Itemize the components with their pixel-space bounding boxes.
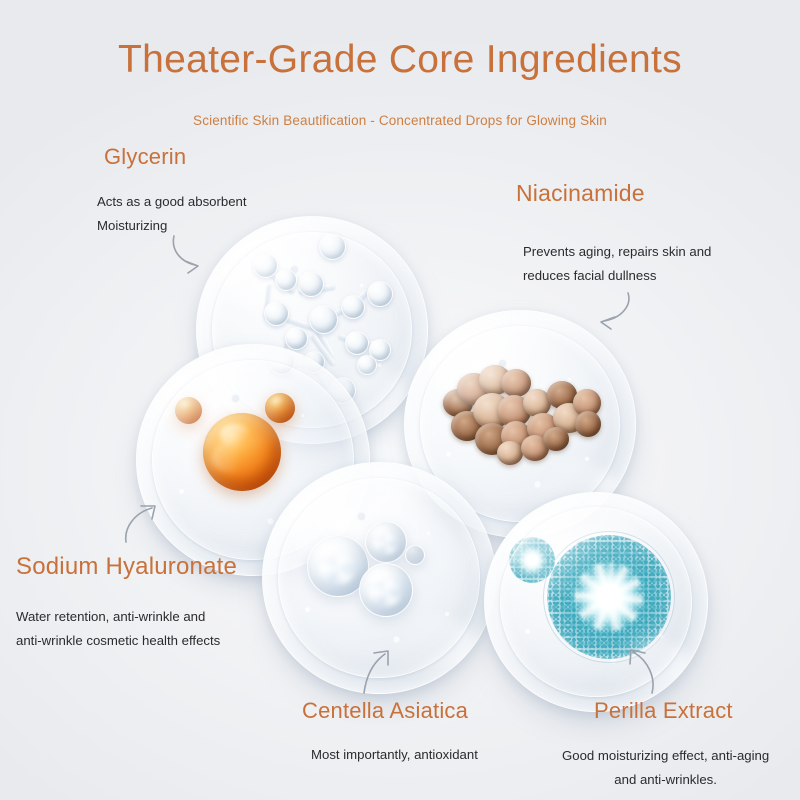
ingredient-name-centella-asiatica: Centella Asiatica (302, 698, 468, 724)
description-line: Prevents aging, repairs skin and (523, 240, 711, 264)
botanical-cluster-icon (439, 359, 607, 471)
description-line: Most importantly, antioxidant (311, 743, 478, 767)
ingredient-name-niacinamide: Niacinamide (516, 180, 645, 207)
dish-perilla-extract (484, 492, 708, 712)
teal-glow-orb-icon (547, 535, 671, 659)
amber-droplet-medium-icon (265, 393, 295, 423)
description-line: anti-wrinkle cosmetic health effects (16, 629, 220, 653)
ingredient-description-centella-asiatica: Most importantly, antioxidant (311, 743, 478, 767)
ingredient-name-perilla-extract: Perilla Extract (594, 698, 733, 724)
ingredient-name-sodium-hyaluronate: Sodium Hyaluronate (16, 553, 237, 581)
teal-glow-orb-small-icon (509, 537, 555, 583)
description-line: Acts as a good absorbent (97, 190, 247, 214)
clear-sphere-lower-icon (359, 563, 413, 617)
description-line: and anti-wrinkles. (562, 768, 769, 792)
description-line: reduces facial dullness (523, 264, 711, 288)
ingredient-name-glycerin: Glycerin (104, 144, 186, 170)
clear-sphere-medium-icon (365, 521, 407, 563)
clear-sphere-tiny-icon (405, 545, 425, 565)
ingredient-description-glycerin: Acts as a good absorbent Moisturizing (97, 190, 247, 239)
dish-highlight-secondary (365, 613, 476, 673)
description-line: Good moisturizing effect, anti-aging (562, 744, 769, 768)
ingredient-description-sodium-hyaluronate: Water retention, anti-wrinkle and anti-w… (16, 605, 220, 654)
dish-centella-asiatica (262, 462, 496, 694)
description-line: Moisturizing (97, 214, 247, 238)
amber-droplet-small-icon (175, 397, 202, 424)
ingredient-description-perilla-extract: Good moisturizing effect, anti-aging and… (562, 744, 769, 793)
dish-glass (262, 462, 496, 694)
description-line: Water retention, anti-wrinkle and (16, 605, 220, 629)
ingredient-dish-stage (0, 0, 800, 800)
dish-glass (484, 492, 708, 712)
amber-droplet-large-icon (203, 413, 281, 491)
ingredient-description-niacinamide: Prevents aging, repairs skin and reduces… (523, 240, 711, 289)
